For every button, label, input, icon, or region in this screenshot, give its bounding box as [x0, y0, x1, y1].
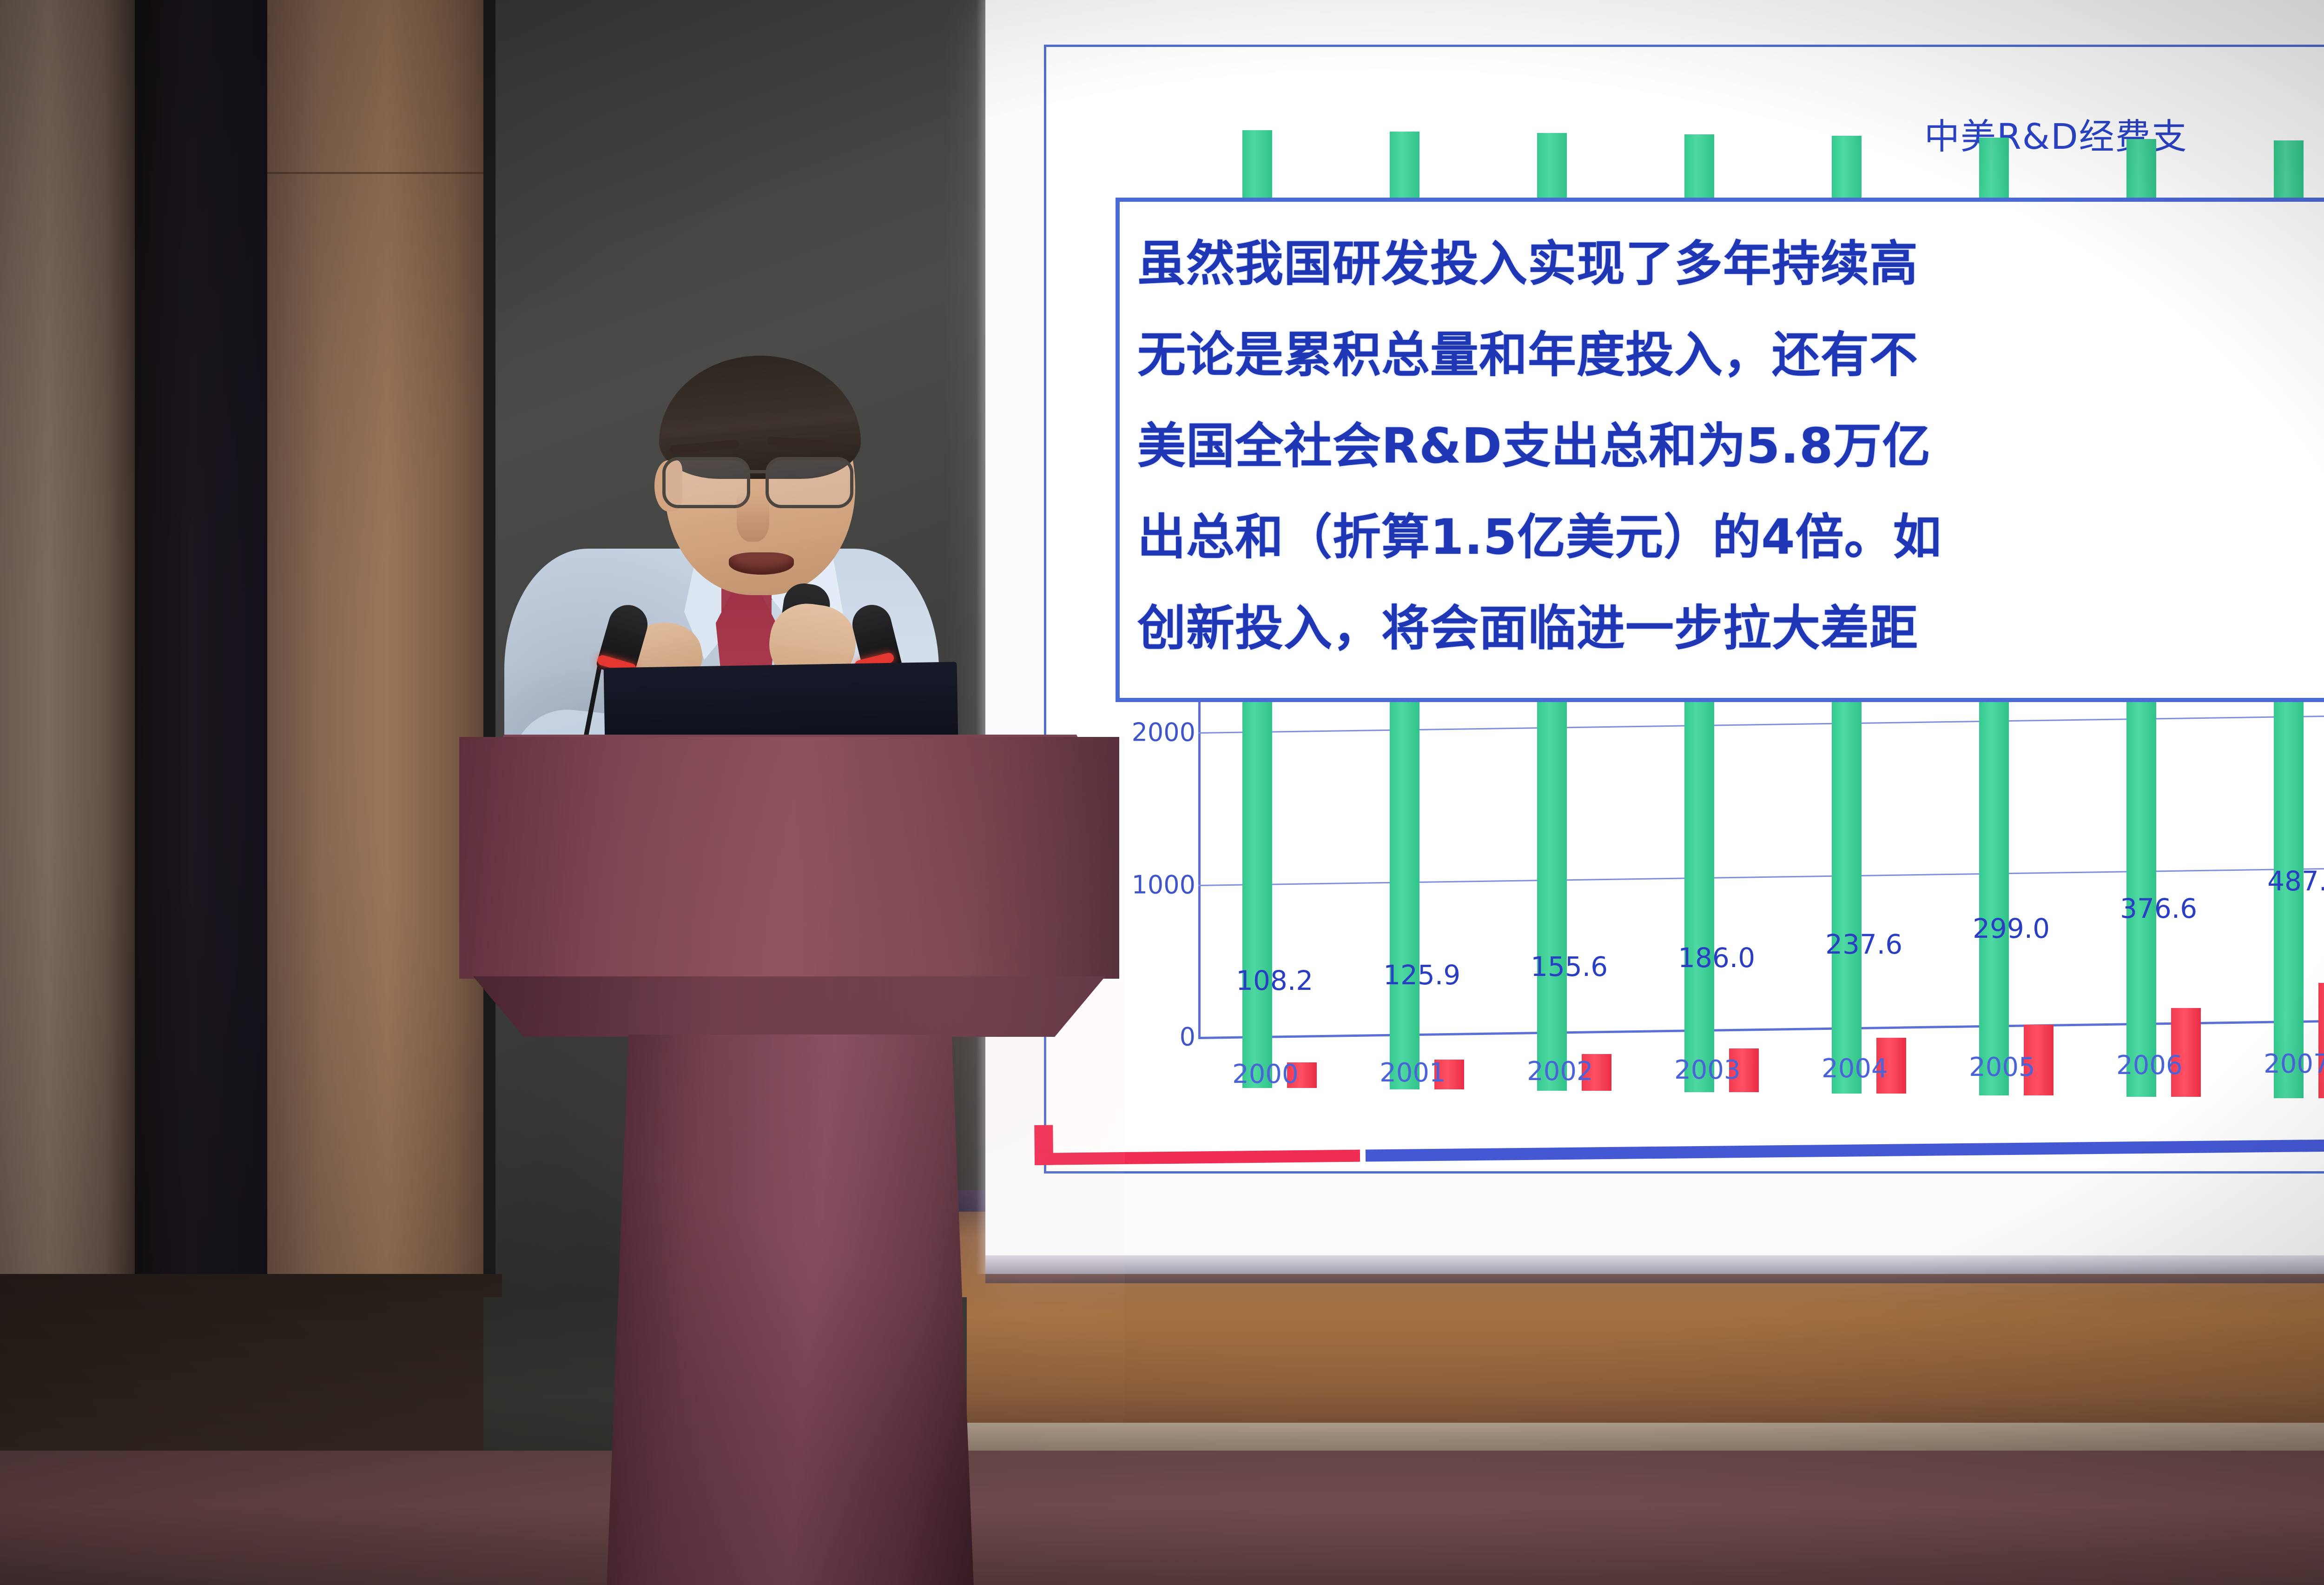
chart-bar-cn: [2318, 983, 2324, 1098]
chart-data-label: 487.7: [2267, 865, 2324, 897]
chart-x-tick-label: 2001: [1380, 1058, 1446, 1088]
chart-data-label: 237.6: [1825, 928, 1902, 960]
chart-x-tick-label: 2003: [1674, 1055, 1741, 1085]
chart-data-label: 155.6: [1531, 951, 1608, 982]
lectern-bevel: [473, 976, 1105, 1037]
chart-x-tick-label: 2005: [1969, 1052, 2035, 1082]
slide-text-line: 无论是累积总量和年度投入，还有不: [1137, 315, 1918, 385]
chart-data-label: 299.0: [1973, 913, 2050, 944]
chart-x-tick-label: 2002: [1527, 1056, 1593, 1087]
chart-data-label: 108.2: [1236, 965, 1313, 996]
lectern-monitor[interactable]: [604, 662, 958, 747]
screenshot-root: 中美R&D经费支 500040003000200010000 108.2125.…: [0, 0, 2324, 1585]
eyeglass-bridge: [744, 470, 768, 473]
screen-surround-edge: [483, 0, 495, 1297]
chart-x-tick-label: 2004: [1822, 1054, 1888, 1084]
presenter-nose: [737, 493, 769, 542]
lectern-body: [459, 737, 1119, 979]
chart-y-tick-label: 2000: [1132, 718, 1195, 747]
chart-x-tick-label: 2006: [2116, 1050, 2183, 1081]
eyeglass-lens-right: [766, 457, 853, 508]
slide-text-line: 出总和（折算1.5亿美元）的4倍。如: [1137, 497, 1942, 568]
chart-x-tick-label: 2007: [2264, 1049, 2324, 1079]
presenter-mouth: [729, 552, 794, 575]
wood-wall-panel-left: [267, 0, 486, 1293]
chart-data-label: 186.0: [1678, 942, 1755, 974]
slide-text-overlay: 虽然我国研发投入实现了多年持续高无论是累积总量和年度投入，还有不美国全社会R&D…: [1116, 198, 2324, 702]
chart-x-tick-label: 2000: [1232, 1059, 1299, 1089]
slide-text-line: 美国全社会R&D支出总和为5.8万亿: [1137, 406, 1931, 477]
lectern-column: [607, 1035, 974, 1585]
slide-text-line: 创新投入，将会面临进一步拉大差距: [1137, 589, 1918, 659]
chart-y-tick-label: 0: [1180, 1022, 1195, 1052]
slide-text-line: 虽然我国研发投入实现了多年持续高: [1137, 224, 1918, 294]
stage-floor: [0, 1451, 2324, 1585]
chart-data-label: 376.6: [2120, 893, 2197, 924]
screen-bottom-shadow: [985, 1255, 2324, 1283]
chart-data-label: 125.9: [1383, 959, 1460, 991]
chart-y-tick-label: 1000: [1132, 870, 1195, 899]
